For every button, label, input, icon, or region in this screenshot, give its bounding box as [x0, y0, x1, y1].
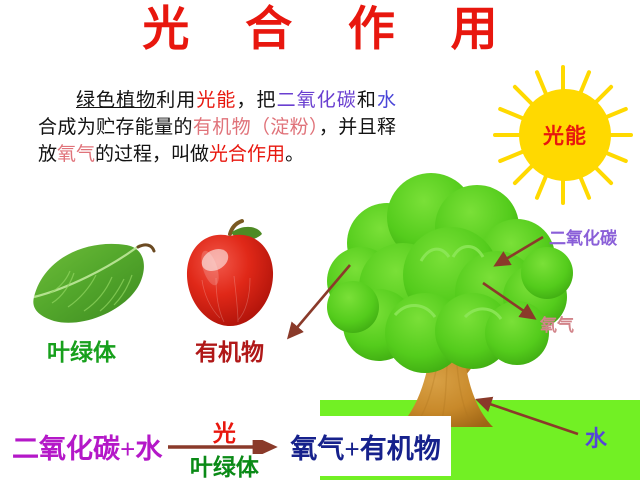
- body-segment-1: 利用: [156, 90, 196, 111]
- equation-condition-chloroplast: 叶绿体: [166, 448, 282, 480]
- body-segment-6: 水: [377, 90, 396, 111]
- body-segment-13: 。: [285, 144, 304, 165]
- body-segment-5: 和: [357, 90, 377, 111]
- body-segment-3: ，把: [237, 90, 277, 111]
- body-paragraph: 绿色植物利用光能，把二氧化碳和水合成为贮存能量的有机物（淀粉），并且释放氧气的过…: [38, 88, 396, 169]
- callout-arrows: [0, 0, 640, 480]
- callout-label-water: 水: [585, 421, 607, 453]
- arrow-co2: [496, 237, 543, 265]
- photosynthesis-slide: 光能: [0, 0, 640, 480]
- arrow-o2: [483, 283, 534, 318]
- body-segment-2: 光能: [196, 90, 236, 111]
- photosynthesis-equation: 二氧化碳+水 光 叶绿体 氧气+有机物: [10, 416, 451, 476]
- body-segment-11: 的过程，叫做: [95, 144, 209, 165]
- equation-products: 氧气+有机物: [286, 427, 444, 466]
- callout-label-co2: 二氧化碳: [549, 224, 617, 249]
- body-segment-0: 绿色植物: [76, 90, 156, 111]
- body-segment-8: 有机物（淀粉）: [193, 117, 319, 138]
- page-title: 光 合 作 用: [0, 6, 640, 55]
- equation-arrow-group: 光 叶绿体: [166, 418, 282, 474]
- arrow-organic: [289, 265, 350, 337]
- callout-label-o2: 氧气: [540, 311, 574, 336]
- body-segment-12: 光合作用: [209, 144, 285, 165]
- body-segment-7: 合成为贮存能量的: [38, 117, 193, 138]
- body-segment-10: 氧气: [57, 144, 95, 165]
- arrow-water: [478, 400, 578, 434]
- equation-reactants: 二氧化碳+水: [12, 427, 162, 466]
- body-segment-4: 二氧化碳: [277, 90, 357, 111]
